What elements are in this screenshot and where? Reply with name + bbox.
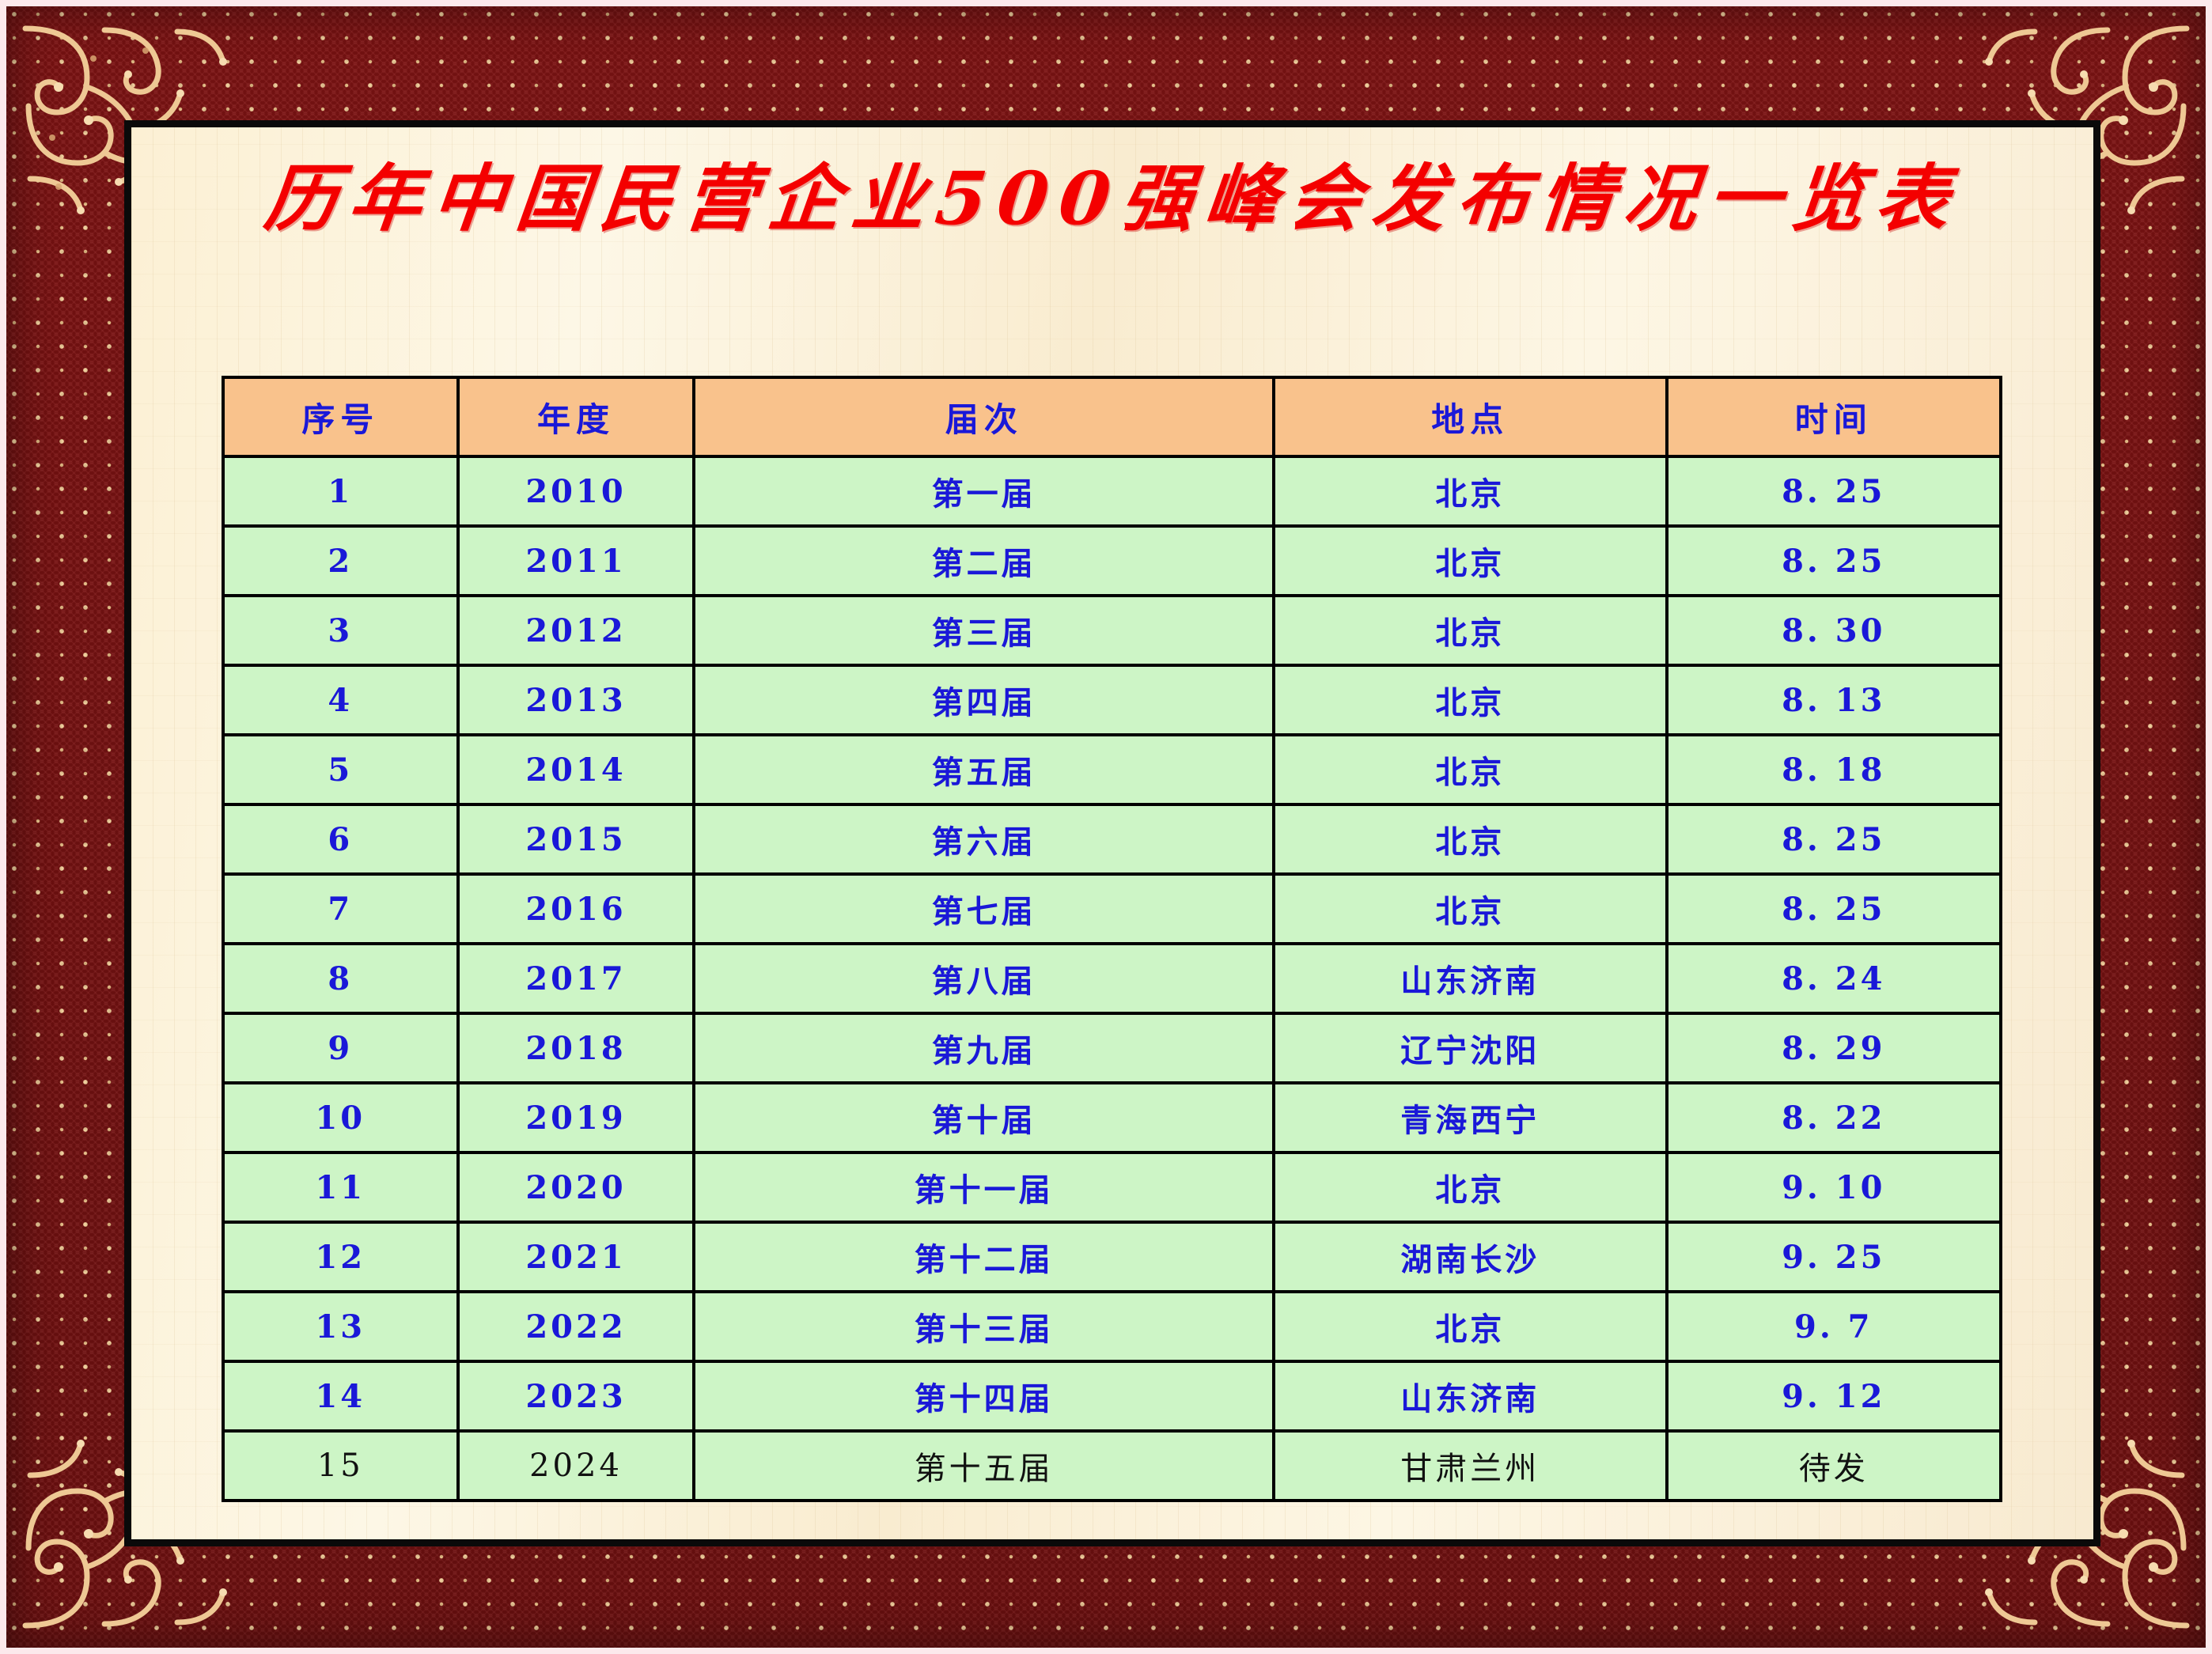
table-row: 62015第六届北京8. 25 <box>223 804 2001 874</box>
column-header-seq: 序号 <box>223 377 458 456</box>
row-cell-session: 第十一届 <box>694 1153 1274 1222</box>
page-title: 历年中国民营企业500强峰会发布情况一览表 <box>127 157 2097 241</box>
table-row: 72016第七届北京8. 25 <box>223 874 2001 944</box>
row-cell-place: 山东济南 <box>1274 944 1667 1013</box>
row-cell-seq: 3 <box>223 596 458 665</box>
row-cell-place: 北京 <box>1274 1153 1667 1222</box>
frame-red-band: 历年中国民营企业500强峰会发布情况一览表 序号 年度 届次 地点 时间 <box>6 6 2206 1648</box>
table-row: 102019第十届青海西宁8. 22 <box>223 1083 2001 1153</box>
row-cell-session: 第二届 <box>694 526 1274 596</box>
row-cell-session: 第八届 <box>694 944 1274 1013</box>
row-cell-session: 第三届 <box>694 596 1274 665</box>
row-cell-seq: 8 <box>223 944 458 1013</box>
row-cell-seq: 4 <box>223 665 458 735</box>
row-cell-seq: 6 <box>223 804 458 874</box>
table-row: 82017第八届山东济南8. 24 <box>223 944 2001 1013</box>
row-cell-year: 2010 <box>458 456 695 526</box>
row-cell-year: 2022 <box>458 1292 695 1361</box>
row-cell-date: 9. 7 <box>1667 1292 2001 1361</box>
row-cell-session: 第六届 <box>694 804 1274 874</box>
row-cell-date: 9. 25 <box>1667 1222 2001 1292</box>
document-page: 历年中国民营企业500强峰会发布情况一览表 序号 年度 届次 地点 时间 <box>124 120 2100 1546</box>
row-cell-date: 8. 25 <box>1667 874 2001 944</box>
row-cell-seq: 1 <box>223 456 458 526</box>
row-cell-year: 2015 <box>458 804 695 874</box>
row-cell-year: 2023 <box>458 1361 695 1431</box>
table-row: 12010第一届北京8. 25 <box>223 456 2001 526</box>
row-cell-session: 第十二届 <box>694 1222 1274 1292</box>
row-cell-session: 第九届 <box>694 1013 1274 1083</box>
summary-table-container: 序号 年度 届次 地点 时间 12010第一届北京8. 2522011第二届北京… <box>222 376 2002 1502</box>
row-cell-seq: 12 <box>223 1222 458 1292</box>
row-cell-seq: 13 <box>223 1292 458 1361</box>
row-cell-place: 北京 <box>1274 1292 1667 1361</box>
row-cell-year: 2013 <box>458 665 695 735</box>
row-cell-seq: 9 <box>223 1013 458 1083</box>
row-cell-year: 2016 <box>458 874 695 944</box>
row-cell-year: 2018 <box>458 1013 695 1083</box>
row-cell-session: 第十五届 <box>694 1431 1274 1501</box>
column-header-year: 年度 <box>458 377 695 456</box>
row-cell-place: 北京 <box>1274 456 1667 526</box>
table-row: 112020第十一届北京9. 10 <box>223 1153 2001 1222</box>
row-cell-seq: 10 <box>223 1083 458 1153</box>
row-cell-seq: 15 <box>223 1431 458 1501</box>
row-cell-session: 第七届 <box>694 874 1274 944</box>
table-header-row: 序号 年度 届次 地点 时间 <box>223 377 2001 456</box>
row-cell-date: 9. 12 <box>1667 1361 2001 1431</box>
table-row: 52014第五届北京8. 18 <box>223 735 2001 804</box>
row-cell-year: 2024 <box>458 1431 695 1501</box>
table-row: 132022第十三届北京9. 7 <box>223 1292 2001 1361</box>
row-cell-seq: 14 <box>223 1361 458 1431</box>
row-cell-session: 第四届 <box>694 665 1274 735</box>
row-cell-date: 8. 18 <box>1667 735 2001 804</box>
row-cell-place: 甘肃兰州 <box>1274 1431 1667 1501</box>
row-cell-date: 8. 29 <box>1667 1013 2001 1083</box>
row-cell-place: 北京 <box>1274 596 1667 665</box>
summary-table: 序号 年度 届次 地点 时间 12010第一届北京8. 2522011第二届北京… <box>222 376 2002 1502</box>
row-cell-session: 第十四届 <box>694 1361 1274 1431</box>
column-header-date: 时间 <box>1667 377 2001 456</box>
row-cell-session: 第十届 <box>694 1083 1274 1153</box>
row-cell-place: 北京 <box>1274 735 1667 804</box>
row-cell-date: 8. 13 <box>1667 665 2001 735</box>
row-cell-place: 北京 <box>1274 526 1667 596</box>
table-row: 142023第十四届山东济南9. 12 <box>223 1361 2001 1431</box>
row-cell-date: 8. 30 <box>1667 596 2001 665</box>
row-cell-date: 待发 <box>1667 1431 2001 1501</box>
row-cell-place: 青海西宁 <box>1274 1083 1667 1153</box>
row-cell-year: 2011 <box>458 526 695 596</box>
row-cell-place: 北京 <box>1274 874 1667 944</box>
table-row: 92018第九届辽宁沈阳8. 29 <box>223 1013 2001 1083</box>
row-cell-place: 北京 <box>1274 665 1667 735</box>
row-cell-place: 湖南长沙 <box>1274 1222 1667 1292</box>
table-row: 42013第四届北京8. 13 <box>223 665 2001 735</box>
row-cell-year: 2014 <box>458 735 695 804</box>
table-row: 122021第十二届湖南长沙9. 25 <box>223 1222 2001 1292</box>
table-header: 序号 年度 届次 地点 时间 <box>223 377 2001 456</box>
row-cell-date: 8. 25 <box>1667 456 2001 526</box>
row-cell-session: 第十三届 <box>694 1292 1274 1361</box>
table-row: 32012第三届北京8. 30 <box>223 596 2001 665</box>
row-cell-seq: 2 <box>223 526 458 596</box>
row-cell-year: 2019 <box>458 1083 695 1153</box>
row-cell-seq: 5 <box>223 735 458 804</box>
table-row: 22011第二届北京8. 25 <box>223 526 2001 596</box>
row-cell-seq: 11 <box>223 1153 458 1222</box>
row-cell-date: 8. 24 <box>1667 944 2001 1013</box>
table-body: 12010第一届北京8. 2522011第二届北京8. 2532012第三届北京… <box>223 456 2001 1501</box>
row-cell-date: 8. 25 <box>1667 804 2001 874</box>
row-cell-date: 9. 10 <box>1667 1153 2001 1222</box>
row-cell-year: 2021 <box>458 1222 695 1292</box>
ornamental-frame: 历年中国民营企业500强峰会发布情况一览表 序号 年度 届次 地点 时间 <box>0 0 2212 1654</box>
column-header-session: 届次 <box>694 377 1274 456</box>
row-cell-year: 2017 <box>458 944 695 1013</box>
row-cell-session: 第五届 <box>694 735 1274 804</box>
row-cell-place: 北京 <box>1274 804 1667 874</box>
row-cell-session: 第一届 <box>694 456 1274 526</box>
row-cell-seq: 7 <box>223 874 458 944</box>
row-cell-date: 8. 22 <box>1667 1083 2001 1153</box>
column-header-place: 地点 <box>1274 377 1667 456</box>
row-cell-date: 8. 25 <box>1667 526 2001 596</box>
row-cell-year: 2020 <box>458 1153 695 1222</box>
table-row: 152024第十五届甘肃兰州待发 <box>223 1431 2001 1501</box>
row-cell-place: 辽宁沈阳 <box>1274 1013 1667 1083</box>
row-cell-year: 2012 <box>458 596 695 665</box>
row-cell-place: 山东济南 <box>1274 1361 1667 1431</box>
